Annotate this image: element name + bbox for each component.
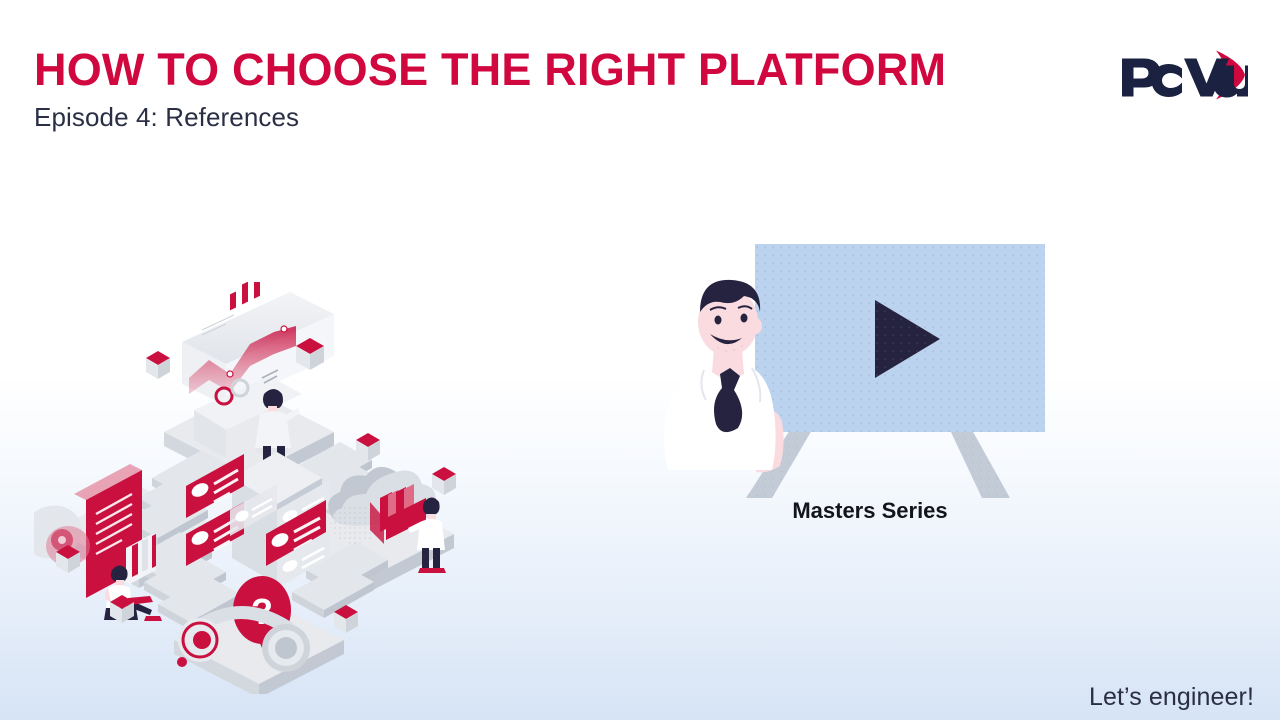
video-screen bbox=[755, 244, 1045, 432]
masters-series-video-graphic[interactable] bbox=[660, 230, 1080, 540]
tagline: Let’s engineer! bbox=[1089, 683, 1254, 712]
isometric-illustration: ? bbox=[34, 282, 484, 694]
masters-series-caption: Masters Series bbox=[660, 498, 1080, 524]
page-title: HOW TO CHOOSE THE RIGHT PLATFORM bbox=[34, 46, 946, 93]
easel-legs bbox=[746, 430, 1010, 498]
pcvue-logo[interactable] bbox=[1118, 47, 1248, 103]
slide-header: HOW TO CHOOSE THE RIGHT PLATFORM Episode… bbox=[34, 46, 946, 133]
slide-canvas: HOW TO CHOOSE THE RIGHT PLATFORM Episode… bbox=[0, 0, 1280, 720]
page-subtitle: Episode 4: References bbox=[34, 102, 946, 133]
